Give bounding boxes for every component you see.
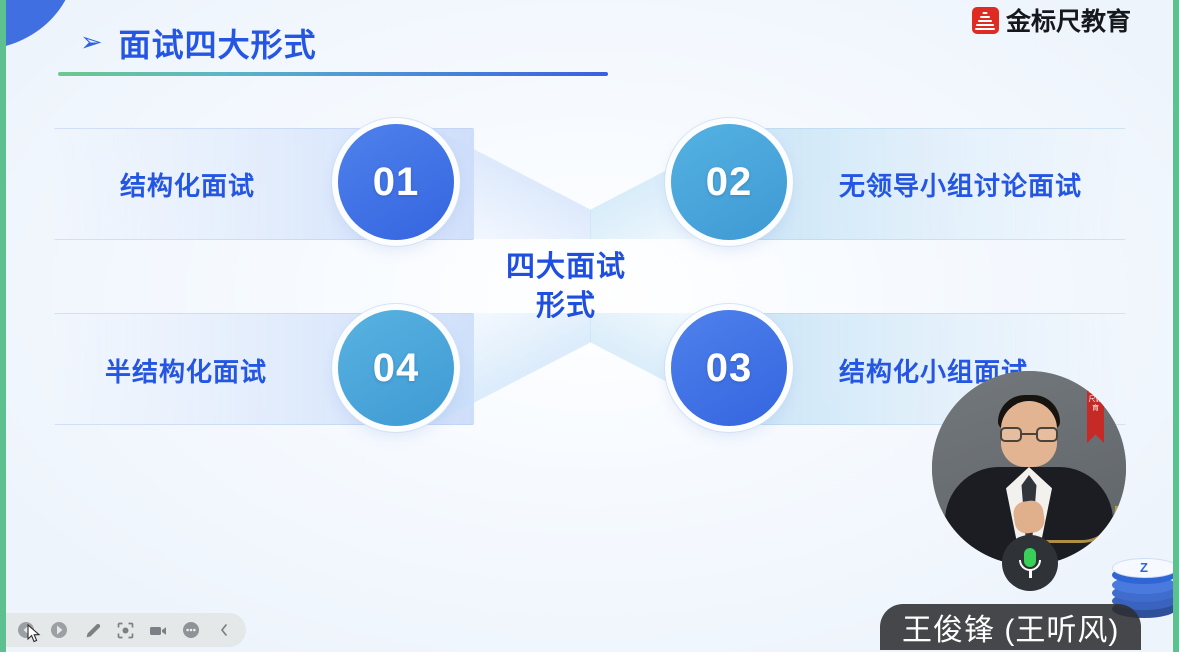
- page-title: 面试四大形式: [119, 20, 317, 66]
- wedge-bottom-left: [431, 313, 591, 425]
- brand-logo: 金标尺教育: [972, 2, 1131, 38]
- video-camera-icon[interactable]: [148, 620, 168, 640]
- item-label-04: 半结构化面试: [105, 352, 267, 389]
- item-label-02: 无领导小组讨论面试: [839, 166, 1082, 203]
- annotation-toolbar[interactable]: [6, 613, 246, 647]
- mic-status-badge[interactable]: [1002, 535, 1058, 591]
- number-circle-03: 03: [671, 310, 787, 426]
- number-circle-02: 02: [671, 124, 787, 240]
- pencil-icon[interactable]: [82, 620, 102, 640]
- bullet-arrow-icon: ➢: [80, 29, 103, 56]
- number-circle-04: 04: [338, 310, 454, 426]
- pointer-icon[interactable]: [49, 620, 69, 640]
- number-circle-01: 01: [338, 124, 454, 240]
- collapse-icon[interactable]: [214, 620, 234, 640]
- diagram-center-label: 四大面试 形式: [466, 248, 666, 327]
- focus-frame-icon[interactable]: [115, 620, 135, 640]
- backdrop-banner: 金标尺教育: [1087, 383, 1104, 443]
- mic-on-icon: [1017, 548, 1043, 578]
- more-icon[interactable]: [181, 620, 201, 640]
- center-line-1: 四大面试: [466, 248, 666, 287]
- screen-share-window: ➢ 面试四大形式 金标尺教育 01 02 03 04 结构化面试 无领导小组讨论…: [0, 0, 1179, 652]
- presenter-glasses: [1000, 427, 1058, 442]
- participant-name-label: 王俊锋 (王听风): [880, 604, 1141, 650]
- pyramid-logo-icon: [972, 7, 999, 34]
- back-icon[interactable]: [16, 620, 36, 640]
- center-line-2: 形式: [466, 287, 666, 326]
- brand-name: 金标尺教育: [1006, 2, 1131, 38]
- slide-title-row: ➢ 面试四大形式: [80, 20, 317, 66]
- decorative-quarter-circle: [6, 0, 76, 50]
- item-label-01: 结构化面试: [120, 166, 255, 203]
- title-underline: [58, 72, 608, 76]
- wedge-top-left: [431, 127, 591, 239]
